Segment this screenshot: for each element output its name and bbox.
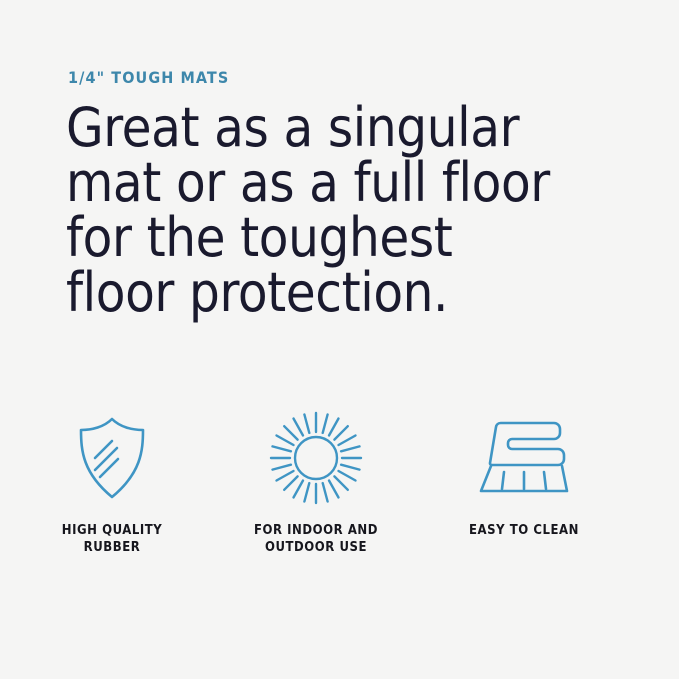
shield-icon	[74, 408, 150, 508]
feature-list: HIGH QUALITY RUBBER	[0, 408, 679, 556]
feature-item-indoor-outdoor-use: FOR INDOOR AND OUTDOOR USE	[214, 408, 418, 556]
headline-line-2: mat or as a full floor	[66, 155, 536, 210]
feature-item-easy-to-clean: EASY TO CLEAN	[422, 408, 626, 539]
sun-icon	[266, 408, 366, 508]
headline-line-1: Great as a singular	[66, 100, 536, 155]
eyebrow-label: 1/4" TOUGH MATS	[68, 68, 229, 87]
scrub-brush-icon	[478, 408, 570, 508]
feature-item-high-quality-rubber: HIGH QUALITY RUBBER	[10, 408, 214, 556]
feature-label: HIGH QUALITY RUBBER	[62, 522, 163, 556]
feature-label: EASY TO CLEAN	[469, 522, 579, 539]
headline-line-4: floor protection.	[66, 265, 536, 320]
feature-label: FOR INDOOR AND OUTDOOR USE	[254, 522, 378, 556]
headline-line-3: for the toughest	[66, 210, 536, 265]
promo-banner: 1/4" TOUGH MATS Great as a singular mat …	[0, 0, 679, 679]
page-title: Great as a singular mat or as a full flo…	[66, 100, 536, 320]
